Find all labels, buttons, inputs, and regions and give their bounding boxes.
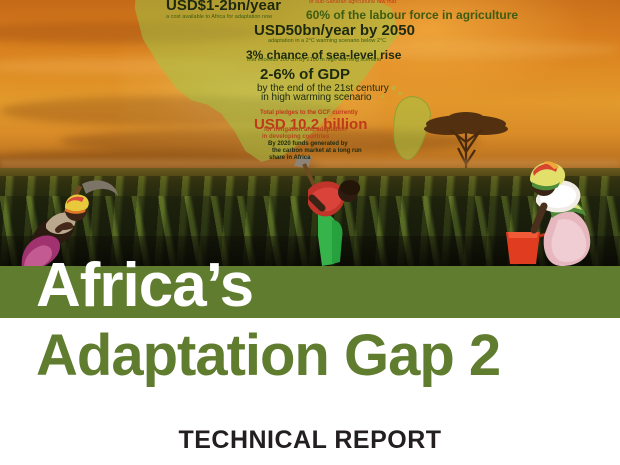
info-line-15: in developing countries (262, 134, 329, 140)
report-cover: USD$1-2bn/year a cost available to Afric… (0, 0, 620, 465)
report-subtitle: TECHNICAL REPORT (0, 428, 620, 453)
info-line-17: the carbon market at a long run (272, 148, 362, 154)
info-line-1: USD$1-2bn/year (166, 0, 281, 14)
info-line-14: for mitigation and adaptation (264, 127, 347, 133)
info-line-9: 2-6% of GDP (260, 67, 350, 83)
info-line-3: of sub-Saharan agricultural raw mat (309, 0, 396, 6)
cover-photograph: USD$1-2bn/year a cost available to Afric… (0, 0, 620, 270)
info-line-4: 60% of the labour force in agriculture (306, 9, 518, 22)
info-line-16: By 2020 funds generated by (268, 141, 348, 147)
info-line-8: that exceeds 100 cm by 2100 in high warm… (247, 58, 381, 64)
info-line-6: adaptation in a 2°C warming scenario bel… (268, 39, 386, 45)
infographic-text-layer: USD$1-2bn/year a cost available to Afric… (0, 0, 620, 175)
info-line-18: share in Africa (269, 155, 310, 161)
info-line-5: USD50bn/year by 2050 (254, 23, 415, 39)
info-line-11: in high warming scenario (261, 93, 372, 104)
info-line-2: a cost available to Africa for adaptatio… (166, 15, 272, 21)
page-title-line-1: Africa’s (36, 255, 253, 317)
page-title-line-2: Adaptation Gap 2 (36, 327, 500, 385)
